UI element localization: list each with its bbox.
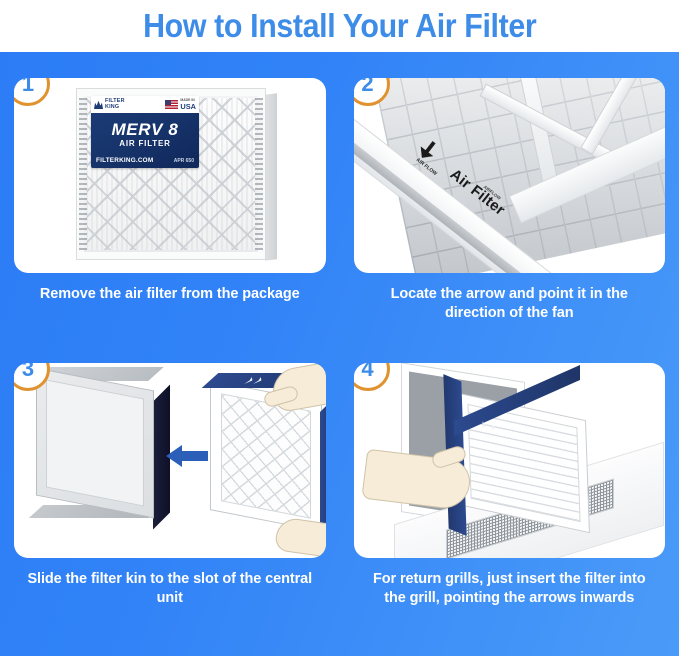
- brand-line-2: KING: [105, 105, 125, 111]
- product-type: AIR FILTER: [91, 139, 199, 148]
- step-4-illustration: [354, 363, 666, 558]
- arrow-mark-2: [491, 423, 497, 431]
- country-label: USA: [180, 103, 196, 110]
- step-2: AIR FLOW Air Filter AIRFLOW 2 Locate the…: [354, 78, 666, 363]
- hand-upper: [269, 363, 326, 413]
- brand-name: FILTER KING: [105, 99, 125, 110]
- steps-grid: FILTER KING MADE IN USA: [0, 52, 679, 656]
- label-footer: FILTERKING.COM APR 650: [96, 157, 194, 164]
- arrow-mark-1: [482, 421, 488, 429]
- step-4-caption: For return grills, just insert the filte…: [354, 570, 666, 608]
- step-4-number: 4: [361, 363, 373, 380]
- made-in-usa-badge: MADE IN USA: [165, 99, 196, 110]
- header-band: How to Install Your Air Filter: [0, 0, 679, 52]
- air-filter-product: FILTER KING MADE IN USA: [76, 88, 266, 260]
- step-4: 4 For return grills, just insert the fil…: [354, 363, 666, 648]
- brand-website: FILTERKING.COM: [96, 157, 153, 164]
- step-2-caption: Locate the arrow and point it in the dir…: [354, 285, 666, 323]
- filter-king-logo: FILTER KING: [94, 99, 125, 110]
- crown-icon: [94, 100, 103, 109]
- filter-frame: FILTER KING MADE IN USA: [76, 88, 266, 260]
- step-1-illustration: FILTER KING MADE IN USA: [14, 78, 326, 273]
- filter-right-edge: [255, 98, 263, 250]
- step-1: FILTER KING MADE IN USA: [14, 78, 326, 363]
- product-label: FILTER KING MADE IN USA: [91, 96, 199, 168]
- direction-arrow-icon: [166, 445, 208, 467]
- page-title: How to Install Your Air Filter: [143, 7, 536, 45]
- step-2-illustration: AIR FLOW Air Filter AIRFLOW: [354, 78, 666, 273]
- merv-rating: MERV 8: [91, 120, 199, 140]
- step-3-illustration: [14, 363, 326, 558]
- step-3: 3 Slide the filter kin to the slot of th…: [14, 363, 326, 648]
- step-2-number: 2: [361, 78, 373, 95]
- label-header-strip: FILTER KING MADE IN USA: [91, 96, 199, 113]
- unit-inner-panel: [46, 379, 144, 506]
- step-3-card: 3: [14, 363, 326, 558]
- filter-navy-side: [320, 394, 326, 542]
- usa-flag-icon: [165, 100, 178, 109]
- step-3-number: 3: [22, 363, 34, 380]
- filter-left-edge: [79, 98, 87, 250]
- step-3-caption: Slide the filter kin to the slot of the …: [14, 570, 326, 608]
- apr-rating: APR 650: [174, 158, 194, 164]
- filter-media-mesh: [221, 393, 311, 518]
- step-1-number: 1: [22, 78, 34, 95]
- step-1-caption: Remove the air filter from the package: [14, 285, 326, 304]
- step-1-card: FILTER KING MADE IN USA: [14, 78, 326, 273]
- step-2-card: AIR FLOW Air Filter AIRFLOW 2: [354, 78, 666, 273]
- made-in-usa-text: MADE IN USA: [180, 99, 196, 110]
- infographic-page: How to Install Your Air Filter: [0, 0, 679, 656]
- step-4-card: 4: [354, 363, 666, 558]
- filter-depth-side: [265, 93, 277, 260]
- central-unit-housing: [36, 368, 154, 519]
